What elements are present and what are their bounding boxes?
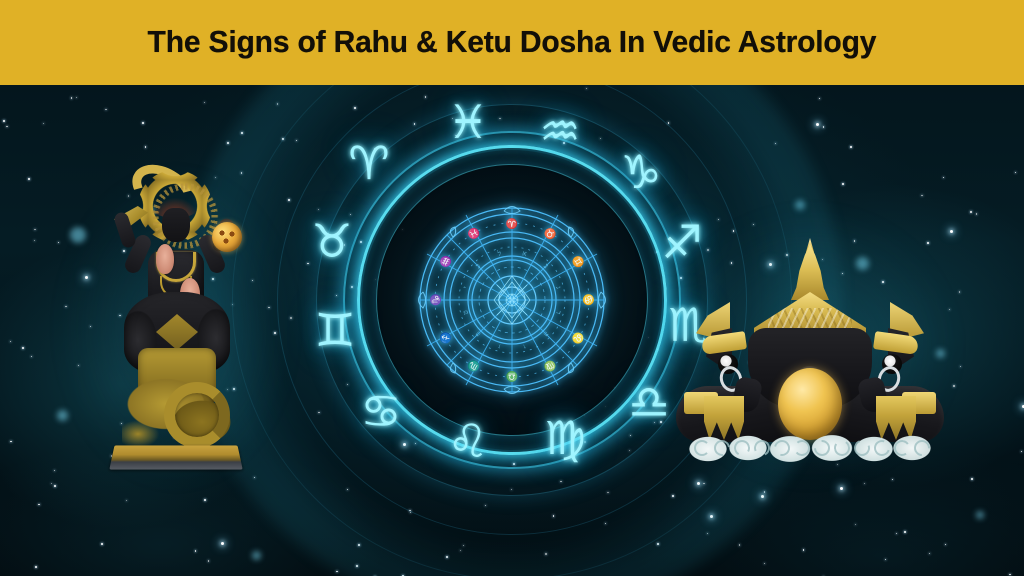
star: [1015, 172, 1016, 173]
svg-text:ל: ל: [496, 249, 502, 258]
svg-text:ד: ד: [554, 310, 563, 316]
star: [1021, 451, 1022, 452]
svg-text:ז: ז: [498, 342, 502, 350]
zodiac-sign-aries: ♈: [338, 132, 400, 194]
star: [950, 230, 953, 233]
star: [35, 566, 37, 568]
header-band: The Signs of Rahu & Ketu Dosha In Vedic …: [0, 0, 1024, 85]
star: [71, 97, 72, 98]
star: [892, 479, 893, 480]
star-glow: [252, 551, 261, 560]
star: [204, 102, 205, 103]
star: [105, 109, 106, 110]
star: [970, 211, 971, 212]
star: [6, 126, 7, 127]
star: [43, 123, 44, 124]
svg-text:♑: ♑: [429, 294, 442, 306]
zodiac-sign-leo: ♌: [437, 410, 499, 472]
star: [76, 97, 77, 98]
star: [10, 441, 11, 442]
svg-text:ו: ו: [522, 342, 526, 350]
star: [208, 560, 209, 561]
star: [850, 146, 852, 148]
star: [855, 524, 856, 525]
zodiac-sign-virgo: ♍: [534, 407, 596, 469]
star: [842, 183, 844, 185]
poster-canvas: The Signs of Rahu & Ketu Dosha In Vedic …: [0, 0, 1024, 576]
cloud-swirl: [851, 437, 872, 458]
zodiac-sign-pisces: ♓: [437, 91, 499, 153]
star: [819, 98, 820, 99]
star: [864, 483, 865, 484]
cloud-swirl: [893, 439, 912, 458]
ketu-statue: [108, 186, 244, 470]
svg-text:א: א: [521, 249, 527, 258]
rahu-moon-orb: [778, 368, 842, 440]
star: [823, 126, 824, 127]
svg-text:ג: ג: [554, 285, 563, 290]
cloud-swirl: [911, 437, 934, 460]
ketu-palm-left: [156, 244, 174, 274]
star: [1009, 574, 1010, 575]
star: [816, 123, 819, 126]
inner-mandala: ♈ ♉ ♊ ♋ ♌ ♍ ♎ ♏ ♐ ♑ ♒ ♓ א ב ג ד: [409, 197, 615, 403]
svg-text:♎: ♎: [506, 370, 518, 383]
star: [10, 341, 11, 342]
star: [22, 347, 24, 349]
cloud-swirl: [871, 437, 893, 459]
star: [195, 550, 196, 551]
ketu-plinth: [109, 445, 242, 469]
rahu-cloud-pedestal: [686, 432, 934, 466]
cloud-swirl: [694, 440, 710, 456]
star: [896, 533, 897, 534]
star: [126, 500, 127, 501]
star: [28, 178, 30, 180]
star: [58, 242, 59, 243]
star: [739, 544, 740, 545]
star: [3, 120, 5, 122]
zodiac-sign-gemini: ♊: [304, 299, 366, 361]
zodiac-sign-cancer: ♋: [350, 380, 412, 442]
page-title: The Signs of Rahu & Ketu Dosha In Vedic …: [148, 25, 877, 60]
star-glow: [57, 410, 68, 421]
star: [34, 240, 35, 241]
star: [38, 504, 39, 505]
rahu-statue: [676, 222, 944, 470]
svg-text:♈: ♈: [506, 217, 518, 230]
star: [959, 291, 960, 292]
star: [960, 366, 961, 367]
cloud-swirl: [833, 439, 852, 458]
star: [221, 542, 224, 545]
cloud-swirl: [771, 437, 793, 459]
star: [101, 543, 103, 545]
star: [904, 531, 906, 533]
star: [204, 499, 206, 501]
star: [51, 483, 52, 484]
star: [885, 559, 886, 560]
star: [840, 487, 843, 490]
star: [764, 563, 765, 564]
cloud-swirl: [793, 439, 810, 456]
zodiac-sign-capricorn: ♑: [610, 141, 672, 203]
star: [976, 213, 977, 214]
star-glow: [976, 511, 984, 519]
star: [971, 478, 973, 480]
svg-text:ט: ט: [461, 309, 470, 315]
star: [31, 356, 32, 357]
star: [34, 229, 35, 230]
star: [929, 553, 930, 554]
zodiac-sign-taurus: ♉: [301, 210, 363, 272]
star: [54, 470, 55, 471]
star: [943, 177, 944, 178]
star: [145, 146, 146, 147]
ketu-orb-icon: [212, 222, 242, 252]
ketu-headless-neck: [162, 208, 190, 242]
zodiac-sign-aquarius: ♒: [529, 100, 591, 162]
ketu-serpent-tail: [122, 374, 232, 452]
star: [945, 544, 946, 545]
svg-text:י: י: [462, 286, 470, 290]
cloud-swirl: [732, 438, 752, 458]
cloud-swirl: [711, 437, 733, 459]
svg-text:♋: ♋: [582, 294, 595, 306]
star: [921, 195, 922, 196]
star: [142, 122, 144, 124]
star: [54, 485, 56, 487]
cloud-swirl: [811, 437, 834, 460]
cloud-swirl: [752, 438, 773, 459]
star: [803, 549, 804, 550]
